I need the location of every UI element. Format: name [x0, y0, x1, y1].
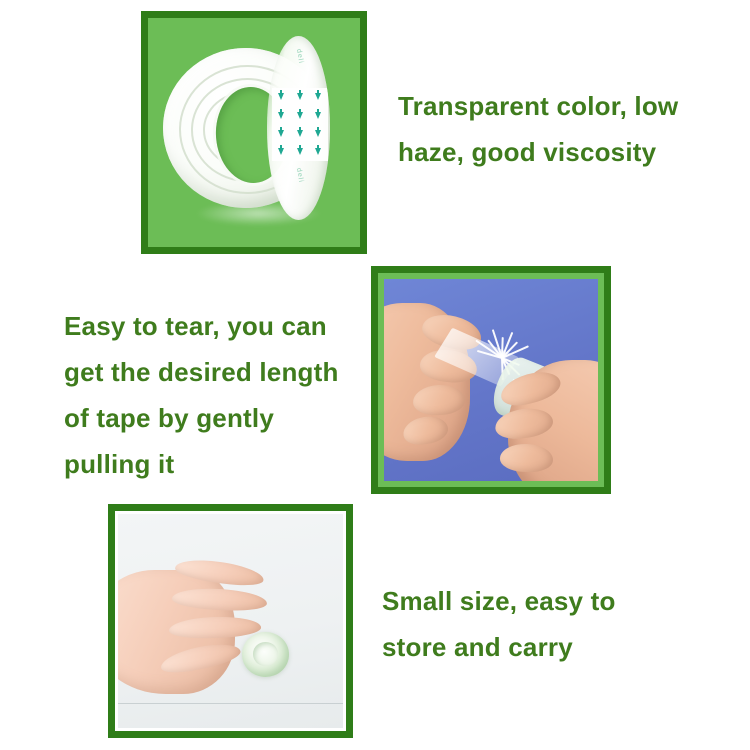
- backdrop-horizon-line: [118, 703, 343, 704]
- infographic-page: deli deli: [0, 0, 750, 750]
- feature-text-small-size: Small size, easy to store and carry: [382, 578, 702, 670]
- holding-hand: [118, 570, 235, 694]
- printed-arrow-patch: [272, 88, 328, 161]
- feature-image-easy-tear: deli: [371, 266, 611, 494]
- down-arrow-icon: [315, 148, 321, 155]
- down-arrow-icon: [278, 130, 284, 137]
- down-arrow-icon: [315, 130, 321, 137]
- feature-text-easy-tear: Easy to tear, you can get the desired le…: [64, 303, 364, 487]
- finger: [500, 443, 554, 472]
- thumb: [159, 638, 243, 677]
- small-tape-roll: [242, 632, 289, 677]
- down-arrow-icon: [315, 112, 321, 119]
- rim-brand-text-top: deli: [291, 36, 308, 85]
- finger: [401, 413, 450, 447]
- tape-roll-rim: deli deli: [267, 36, 331, 219]
- hands-tearing-tape-photo: deli: [384, 279, 598, 481]
- down-arrow-icon: [278, 148, 284, 155]
- finger: [171, 587, 267, 613]
- feature-image-small-size: [108, 504, 353, 738]
- down-arrow-icon: [297, 93, 303, 100]
- down-arrow-icon: [278, 93, 284, 100]
- down-arrow-icon: [297, 112, 303, 119]
- hand-holding-roll-photo: [118, 514, 343, 728]
- feature-text-transparent: Transparent color, low haze, good viscos…: [398, 83, 728, 175]
- finger: [168, 615, 261, 639]
- down-arrow-icon: [278, 112, 284, 119]
- down-arrow-icon: [297, 130, 303, 137]
- left-hand: [384, 303, 470, 461]
- feature-image-transparent: deli deli: [141, 11, 367, 254]
- down-arrow-icon: [315, 93, 321, 100]
- green-backdrop: deli deli: [148, 18, 360, 247]
- finger: [173, 556, 264, 589]
- right-hand: [508, 360, 598, 481]
- tape-roll-photo: deli deli: [148, 18, 360, 247]
- finger: [412, 384, 466, 417]
